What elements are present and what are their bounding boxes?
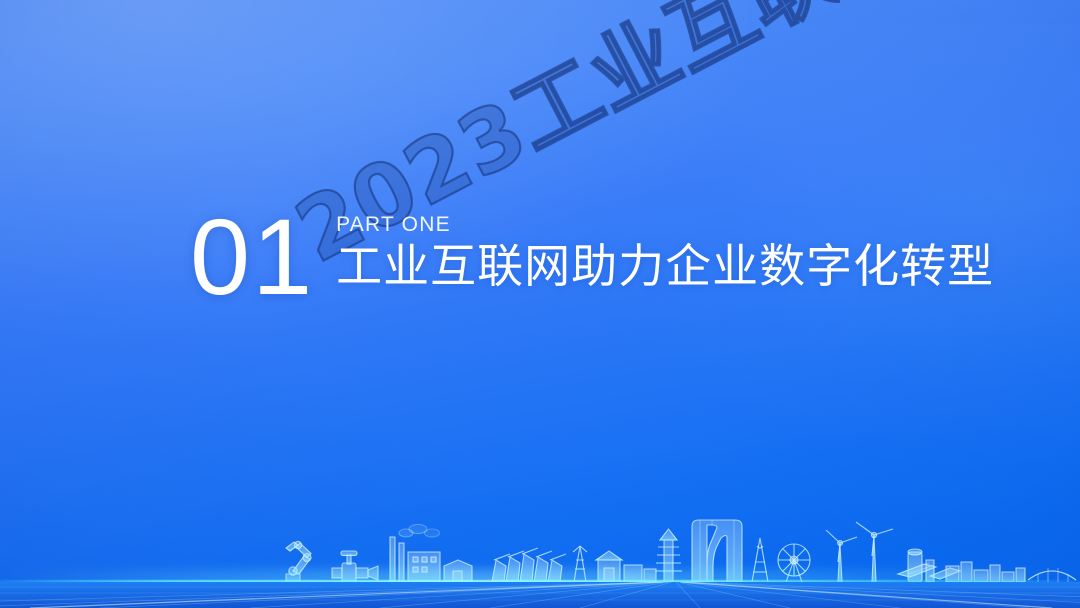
pipe-valve-icon	[332, 551, 378, 582]
factory-smokestacks-icon	[390, 524, 440, 582]
gate-of-the-orient-icon	[692, 520, 742, 582]
warehouse-icon	[444, 560, 472, 582]
skyline-illustration	[0, 516, 1080, 582]
bottom-scene	[0, 508, 1080, 608]
city-buildings-icon	[596, 551, 656, 582]
section-headline: 01 PART ONE 工业互联网助力企业数字化转型	[190, 205, 994, 309]
presentation-slide: 2023工业互联网大会 01 PART ONE 工业互联网助力企业数字化转型	[0, 0, 1080, 608]
robotic-arm-icon	[286, 541, 311, 582]
ground-plane	[0, 582, 1080, 608]
ferris-wheel-icon	[778, 544, 810, 582]
skyline-group	[286, 520, 1076, 582]
horizon-line	[0, 580, 1080, 585]
wind-turbine-icon	[826, 522, 893, 582]
part-label: PART ONE	[336, 214, 994, 235]
page-title: 工业互联网助力企业数字化转型	[336, 242, 994, 292]
transmission-tower-icon	[568, 546, 592, 582]
city-buildings-right-icon	[946, 562, 1025, 582]
part-number: 01	[190, 205, 314, 309]
pagoda-icon	[655, 523, 682, 582]
perspective-grid	[0, 582, 1080, 608]
bridge-icon	[1028, 568, 1076, 582]
oil-pumpjack-icon	[492, 548, 566, 582]
storage-tank-icon	[908, 549, 936, 582]
headline-text-group: PART ONE 工业互联网助力企业数字化转型	[336, 205, 994, 292]
solar-panel-icon	[898, 563, 960, 582]
eiffel-tower-icon	[752, 524, 768, 582]
horizon-bloom	[0, 570, 1080, 592]
